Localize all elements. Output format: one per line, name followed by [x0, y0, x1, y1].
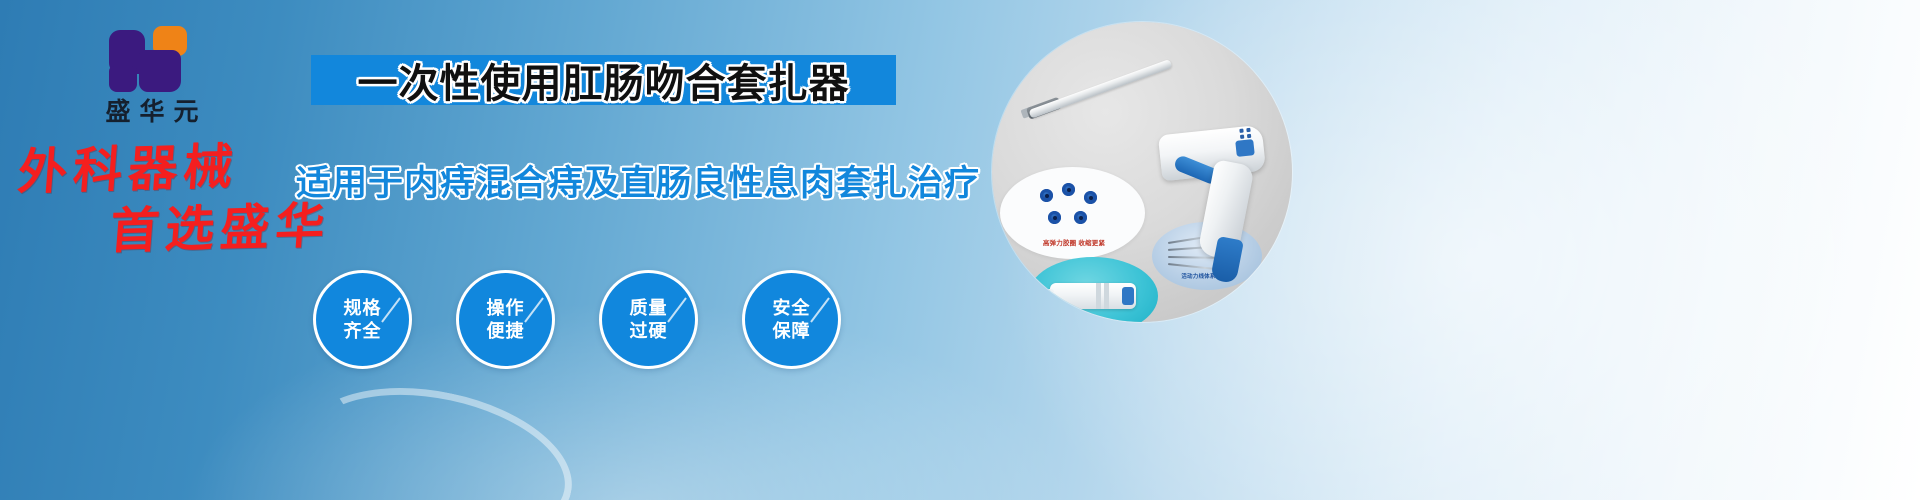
badge-quality[interactable]: 质量 过硬: [599, 270, 698, 369]
badge-operation[interactable]: 操作 便捷: [456, 270, 555, 369]
badge-label-line2: 齐全: [344, 320, 382, 343]
brand-logo[interactable]: 盛华元: [62, 26, 242, 126]
slogan-line-2: 首选盛华: [108, 201, 350, 256]
gun-shaft: [1028, 59, 1172, 119]
badge-label-line1: 规格: [344, 297, 382, 320]
badge-label-line1: 安全: [773, 297, 811, 320]
badge-label-line1: 质量: [630, 297, 668, 320]
page-subtitle: 适用于内痔混合痔及直肠良性息肉套扎治疗: [296, 155, 906, 206]
badge-label-line2: 便捷: [487, 320, 525, 343]
gun-control-pad: [1239, 127, 1258, 143]
promo-banner: 盛华元 外科器械 首选盛华 一次性使用肛肠吻合套扎器 适用于内痔混合痔及直肠良性…: [0, 0, 1920, 500]
page-title: 一次性使用肛肠吻合套扎器: [311, 50, 896, 110]
logo-block-bottom: [109, 66, 137, 92]
ligation-gun-device-icon: [992, 22, 1292, 322]
badge-slash-icon: [381, 297, 401, 322]
badge-label-line2: 保障: [773, 320, 811, 343]
badge-slash-icon: [810, 297, 830, 322]
brand-name: 盛华元: [62, 98, 242, 126]
badge-slash-icon: [524, 297, 544, 322]
badge-label-line1: 操作: [487, 297, 525, 320]
badge-slash-icon: [667, 297, 687, 322]
shenghuayuan-blocks-logo-icon: [109, 26, 195, 92]
decorative-arc: [288, 365, 586, 500]
logo-block-right: [139, 50, 181, 92]
feature-badges: 规格 齐全 操作 便捷 质量 过硬 安全 保障: [313, 270, 841, 369]
badge-specifications[interactable]: 规格 齐全: [313, 270, 412, 369]
product-photo: 高弹力胶圈 收缩更紧 活动力线体系构造型: [992, 22, 1292, 322]
badge-safety[interactable]: 安全 保障: [742, 270, 841, 369]
badge-label-line2: 过硬: [630, 320, 668, 343]
